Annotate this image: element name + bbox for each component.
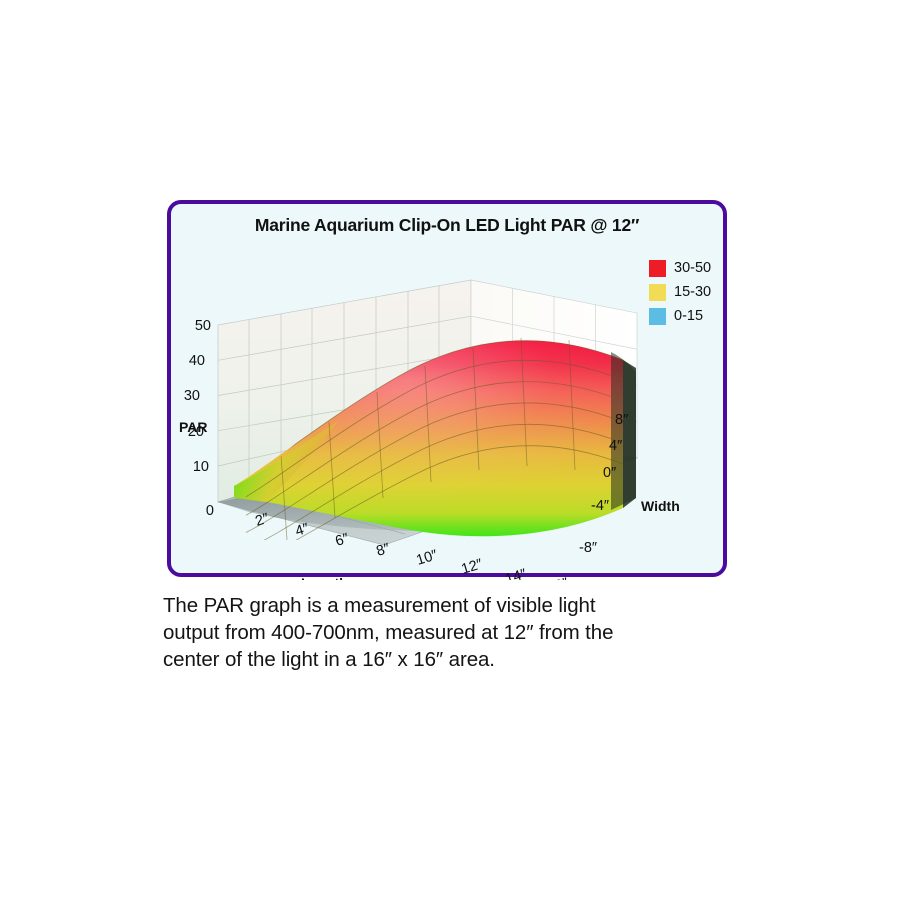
legend-item-15-30: 15-30 xyxy=(649,284,729,301)
page-root: Marine Aquarium Clip-On LED Light PAR @ … xyxy=(0,0,900,900)
x-tick-10: 10″ xyxy=(414,547,439,569)
legend-label-0-15: 0-15 xyxy=(674,309,703,324)
chart-title: Marine Aquarium Clip-On LED Light PAR @ … xyxy=(171,215,723,236)
par-legend: 30-50 15-30 0-15 xyxy=(649,260,729,332)
par-caption: The PAR graph is a measurement of visibl… xyxy=(163,592,763,673)
z-axis: 50 40 30 20 10 0 PAR xyxy=(179,318,214,519)
z-tick-30: 30 xyxy=(184,388,200,404)
y-tick-4: 4″ xyxy=(609,438,622,454)
z-tick-40: 40 xyxy=(189,353,205,369)
caption-line-3: center of the light in a 16″ x 16″ area. xyxy=(163,646,763,673)
surface-plot-svg: 50 40 30 20 10 0 PAR 2″ 4″ 6″ 8″ 10″ 12″… xyxy=(171,240,731,580)
legend-item-30-50: 30-50 xyxy=(649,260,729,277)
caption-line-2: output from 400-700nm, measured at 12″ f… xyxy=(163,619,763,646)
z-tick-0: 0 xyxy=(206,503,214,519)
y-tick-neg4: -4″ xyxy=(591,498,609,514)
x-tick-8: 8″ xyxy=(374,541,391,560)
x-tick-16: 16″ xyxy=(545,575,570,580)
x-tick-12: 12″ xyxy=(459,556,484,578)
z-tick-10: 10 xyxy=(193,459,209,475)
legend-label-30-50: 30-50 xyxy=(674,261,711,276)
par-chart-panel: Marine Aquarium Clip-On LED Light PAR @ … xyxy=(167,200,727,577)
z-axis-title: PAR xyxy=(179,419,208,435)
legend-swatch-yellow xyxy=(649,284,666,301)
y-tick-neg8: -8″ xyxy=(579,540,597,556)
x-axis-title: Length xyxy=(301,575,348,580)
z-tick-50: 50 xyxy=(195,318,211,334)
surface-plot-area: 50 40 30 20 10 0 PAR 2″ 4″ 6″ 8″ 10″ 12″… xyxy=(171,240,731,580)
legend-swatch-red xyxy=(649,260,666,277)
legend-item-0-15: 0-15 xyxy=(649,308,729,325)
caption-line-1: The PAR graph is a measurement of visibl… xyxy=(163,592,763,619)
y-axis-title: Width xyxy=(641,498,680,514)
y-tick-8: 8″ xyxy=(615,412,628,428)
y-tick-0: 0″ xyxy=(603,465,616,481)
legend-swatch-blue xyxy=(649,308,666,325)
x-tick-14: 14″ xyxy=(503,566,528,580)
legend-label-15-30: 15-30 xyxy=(674,285,711,300)
